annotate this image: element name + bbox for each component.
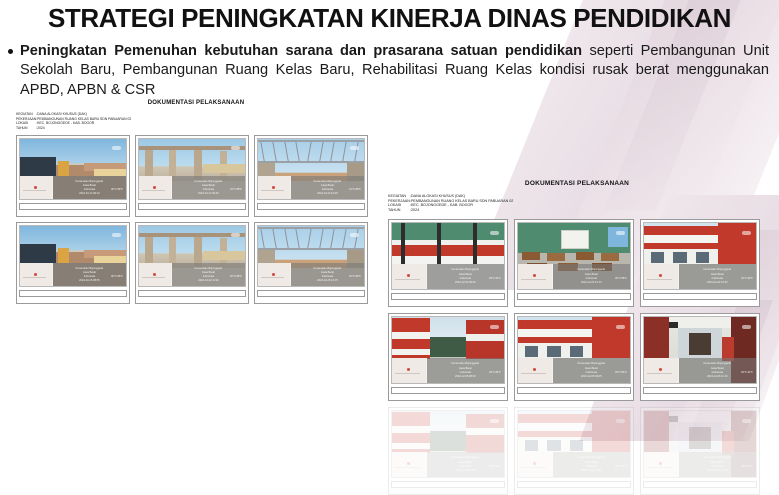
photo-frame[interactable]: Kecamatan BojonggedeJawa BaratIndonesia2…: [640, 313, 760, 401]
map-thumbnail-icon: [518, 452, 553, 477]
photo-building-facade-courtyard[interactable]: Kecamatan BojonggedeJawa BaratIndonesia2…: [643, 222, 757, 290]
bullet-dot-icon: [8, 49, 13, 54]
map-thumbnail-icon: [644, 264, 679, 289]
watermark-line2: Jawa Barat: [202, 184, 215, 187]
weather-cloud-icon: [112, 146, 121, 150]
watermark-temperature: 33°C 91°F: [741, 465, 753, 468]
photo-classroom-interior[interactable]: Kecamatan BojonggedeJawa BaratIndonesia2…: [517, 222, 631, 290]
watermark-temperature: 29°C 84°F: [489, 277, 501, 280]
watermark-temperature: 33°C 91°F: [741, 371, 753, 374]
watermark-temperature: 30°C 86°F: [111, 188, 123, 191]
watermark-line1: Kecamatan Bojonggede: [195, 267, 223, 270]
photo-frame[interactable]: Kecamatan BojonggedeJawa BaratIndonesia2…: [16, 222, 130, 304]
watermark-line4: 2024-10-16 08:55: [79, 279, 99, 282]
watermark-line3: Indonesia: [586, 465, 597, 468]
photo-frame[interactable]: Kecamatan BojonggedeJawa BaratIndonesia2…: [514, 313, 634, 401]
watermark-line1: Kecamatan Bojonggede: [76, 267, 104, 270]
weather-cloud-icon: [742, 325, 751, 329]
watermark-line1: Kecamatan Bojonggede: [314, 180, 342, 183]
photo-caption-bar: [391, 387, 505, 394]
photo-frame[interactable]: Kecamatan BojonggedeJawa BaratIndonesia2…: [388, 313, 508, 401]
watermark-line3: Indonesia: [586, 371, 597, 374]
watermark-line2: Jawa Barat: [585, 461, 598, 464]
photo-bottom-row-center[interactable]: Kecamatan BojonggedeJawa BaratIndonesia2…: [517, 410, 631, 478]
watermark-line1: Kecamatan Bojonggede: [451, 268, 479, 271]
weather-cloud-icon: [490, 419, 499, 423]
watermark-line3: Indonesia: [712, 371, 723, 374]
weather-cloud-icon: [616, 419, 625, 423]
map-thumbnail-icon: [139, 176, 172, 199]
watermark-line2: Jawa Barat: [711, 273, 724, 276]
bullet-paragraph: Peningkatan Pemenuhan kebutuhan sarana d…: [20, 42, 769, 101]
page-title: STRATEGI PENINGKATAN KINERJA DINAS PENDI…: [0, 0, 779, 34]
doc-meta-value: 2024: [37, 126, 131, 131]
watermark-temperature: 32°C 89°F: [230, 275, 242, 278]
map-thumbnail-icon: [392, 452, 427, 477]
watermark-line2: Jawa Barat: [83, 271, 96, 274]
photo-frame[interactable]: Kecamatan BojonggedeJawa BaratIndonesia2…: [514, 219, 634, 307]
watermark-line4: 2024-12-05 09:05: [581, 375, 601, 378]
map-thumbnail-icon: [392, 264, 427, 289]
weather-cloud-icon: [231, 233, 240, 237]
doc-meta-row: TAHUN:2024: [388, 208, 513, 213]
watermark-line4: 2024-10-20 10:05: [317, 192, 337, 195]
map-thumbnail-icon: [518, 264, 553, 289]
watermark-line4: 2024-12-06 12:05: [581, 469, 601, 472]
weather-cloud-icon: [616, 231, 625, 235]
photo-caption-bar: [391, 481, 505, 488]
map-thumbnail-icon: [518, 358, 553, 383]
watermark-line4: 2024-12-06 11:40: [455, 469, 475, 472]
watermark-line4: 2024-12-02 09:20: [455, 281, 475, 284]
photo-grid-1: Kecamatan BojonggedeJawa BaratIndonesia2…: [16, 135, 376, 304]
watermark-line1: Kecamatan Bojonggede: [577, 362, 605, 365]
photo-caption-bar: [517, 293, 631, 300]
doc-meta-table-2: KEGIATAN:DANA ALOKASI KHUSUS (DAK)PEKERJ…: [388, 194, 513, 212]
watermark-temperature: 29°C 84°F: [615, 371, 627, 374]
watermark-line3: Indonesia: [203, 275, 214, 278]
watermark-line2: Jawa Barat: [459, 367, 472, 370]
doc-meta-table-1: KEGIATAN:DANA ALOKASI KHUSUS (DAK)PEKERJ…: [16, 112, 131, 130]
doc-meta-key: TAHUN: [388, 208, 410, 213]
watermark-temperature: 34°C 93°F: [741, 277, 753, 280]
map-thumbnail-icon: [258, 263, 291, 286]
weather-cloud-icon: [350, 146, 359, 150]
photo-courtyard-perspective[interactable]: Kecamatan BojonggedeJawa BaratIndonesia2…: [391, 316, 505, 384]
gps-watermark-overlay: Kecamatan BojonggedeJawa BaratIndonesia2…: [392, 358, 504, 383]
watermark-temperature: 29°C 84°F: [489, 371, 501, 374]
photo-caption-bar: [517, 387, 631, 394]
watermark-line1: Kecamatan Bojonggede: [451, 362, 479, 365]
photo-caption-bar: [643, 293, 757, 300]
photo-grid-2: Kecamatan BojonggedeJawa BaratIndonesia2…: [388, 219, 766, 495]
gps-watermark-overlay: Kecamatan BojonggedeJawa BaratIndonesia2…: [392, 452, 504, 477]
watermark-line2: Jawa Barat: [83, 184, 96, 187]
weather-cloud-icon: [350, 233, 359, 237]
watermark-line4: 2024-10-14 09:40: [198, 192, 218, 195]
gps-watermark-overlay: Kecamatan BojonggedeJawa BaratIndonesia2…: [518, 358, 630, 383]
bullet-item: Peningkatan Pemenuhan kebutuhan sarana d…: [6, 42, 769, 101]
photo-frame[interactable]: Kecamatan BojonggedeJawa BaratIndonesia2…: [135, 135, 249, 217]
watermark-line2: Jawa Barat: [321, 184, 334, 187]
watermark-line2: Jawa Barat: [711, 367, 724, 370]
watermark-line1: Kecamatan Bojonggede: [703, 456, 731, 459]
watermark-line1: Kecamatan Bojonggede: [703, 362, 731, 365]
photo-truss-interior[interactable]: Kecamatan BojonggedeJawa BaratIndonesia2…: [257, 225, 365, 287]
photo-caption-bar: [138, 203, 246, 210]
photo-frame[interactable]: Kecamatan BojonggedeJawa BaratIndonesia2…: [254, 222, 368, 304]
gps-watermark-overlay: Kecamatan BojonggedeJawa BaratIndonesia2…: [644, 358, 756, 383]
weather-cloud-icon: [490, 231, 499, 235]
watermark-line4: 2024-12-06 12:30: [707, 469, 727, 472]
photo-caption-bar: [643, 481, 757, 488]
watermark-line3: Indonesia: [322, 188, 333, 191]
photo-demolition-site-wide[interactable]: Kecamatan BojonggedeJawa BaratIndonesia2…: [19, 138, 127, 200]
watermark-temperature: 32°C 89°F: [349, 275, 361, 278]
watermark-line3: Indonesia: [712, 277, 723, 280]
photo-demolition-site-lower[interactable]: Kecamatan BojonggedeJawa BaratIndonesia2…: [19, 225, 127, 287]
map-thumbnail-icon: [644, 358, 679, 383]
map-thumbnail-icon: [20, 176, 53, 199]
weather-cloud-icon: [490, 325, 499, 329]
watermark-temperature: 29°C 84°F: [615, 465, 627, 468]
gps-watermark-overlay: Kecamatan BojonggedeJawa BaratIndonesia2…: [392, 264, 504, 289]
map-thumbnail-icon: [258, 176, 291, 199]
photo-caption-bar: [19, 290, 127, 297]
watermark-line3: Indonesia: [84, 188, 95, 191]
watermark-temperature: 33°C 91°F: [489, 465, 501, 468]
photo-caption-bar: [19, 203, 127, 210]
watermark-line2: Jawa Barat: [321, 271, 334, 274]
documentation-block-1: DOKUMENTASI PELAKSANAAN KEGIATAN:DANA AL…: [16, 100, 376, 304]
photo-frame[interactable]: Kecamatan BojonggedeJawa BaratIndonesia2…: [16, 135, 130, 217]
weather-cloud-icon: [112, 233, 121, 237]
watermark-line3: Indonesia: [460, 277, 471, 280]
photo-frame[interactable]: Kecamatan BojonggedeJawa BaratIndonesia2…: [388, 219, 508, 307]
photo-frame[interactable]: Kecamatan BojonggedeJawa BaratIndonesia2…: [388, 407, 508, 495]
photo-caption-bar: [643, 387, 757, 394]
doc-heading-2: DOKUMENTASI PELAKSANAAN: [388, 180, 766, 187]
map-thumbnail-icon: [20, 263, 53, 286]
weather-cloud-icon: [742, 419, 751, 423]
photo-frame[interactable]: Kecamatan BojonggedeJawa BaratIndonesia2…: [135, 222, 249, 304]
watermark-line1: Kecamatan Bojonggede: [314, 267, 342, 270]
photo-frame[interactable]: Kecamatan BojonggedeJawa BaratIndonesia2…: [514, 407, 634, 495]
gps-watermark-overlay: Kecamatan BojonggedeJawa BaratIndonesia2…: [518, 452, 630, 477]
watermark-line3: Indonesia: [322, 275, 333, 278]
watermark-line1: Kecamatan Bojonggede: [703, 268, 731, 271]
watermark-line2: Jawa Barat: [585, 273, 598, 276]
watermark-line3: Indonesia: [84, 275, 95, 278]
weather-cloud-icon: [742, 231, 751, 235]
watermark-line1: Kecamatan Bojonggede: [76, 180, 104, 183]
photo-steel-roof-truss[interactable]: Kecamatan BojonggedeJawa BaratIndonesia2…: [257, 138, 365, 200]
doc-heading-1: DOKUMENTASI PELAKSANAAN: [16, 100, 376, 106]
watermark-temperature: 30°C 86°F: [111, 275, 123, 278]
watermark-line3: Indonesia: [460, 465, 471, 468]
photo-caption-bar: [257, 203, 365, 210]
doc-meta-value: 2024: [411, 208, 513, 213]
watermark-line1: Kecamatan Bojonggede: [577, 456, 605, 459]
watermark-temperature: 31°C 88°F: [349, 188, 361, 191]
watermark-line4: 2024-12-03 10:14: [581, 281, 601, 284]
photo-corridor-railing[interactable]: Kecamatan BojonggedeJawa BaratIndonesia2…: [391, 222, 505, 290]
bullet-bold-text: Peningkatan Pemenuhan kebutuhan sarana d…: [20, 43, 582, 59]
photo-column-structure[interactable]: Kecamatan BojonggedeJawa BaratIndonesia2…: [138, 138, 246, 200]
map-thumbnail-icon: [392, 358, 427, 383]
photo-caption-bar: [138, 290, 246, 297]
watermark-line4: 2024-12-03 10:40: [707, 281, 727, 284]
watermark-line2: Jawa Barat: [585, 367, 598, 370]
slide-content: STRATEGI PENINGKATAN KINERJA DINAS PENDI…: [0, 0, 779, 101]
weather-cloud-icon: [616, 325, 625, 329]
doc-meta-row: TAHUN:2024: [16, 126, 131, 131]
watermark-line2: Jawa Barat: [711, 461, 724, 464]
photo-frame[interactable]: Kecamatan BojonggedeJawa BaratIndonesia2…: [640, 219, 760, 307]
watermark-line1: Kecamatan Bojonggede: [451, 456, 479, 459]
watermark-temperature: 30°C 86°F: [615, 277, 627, 280]
photo-bottom-row-right[interactable]: Kecamatan BojonggedeJawa BaratIndonesia2…: [643, 410, 757, 478]
watermark-line4: 2024-12-05 08:30: [455, 375, 475, 378]
watermark-line4: 2024-10-14 09:12: [79, 192, 99, 195]
map-thumbnail-icon: [139, 263, 172, 286]
watermark-line1: Kecamatan Bojonggede: [195, 180, 223, 183]
watermark-line4: 2024-10-25 13:15: [317, 279, 337, 282]
doc-meta-key: TAHUN: [16, 126, 36, 131]
watermark-line3: Indonesia: [203, 188, 214, 191]
watermark-line4: 2024-12-06 11:10: [707, 375, 727, 378]
watermark-line2: Jawa Barat: [202, 271, 215, 274]
watermark-temperature: 31°C 88°F: [230, 188, 242, 191]
watermark-line2: Jawa Barat: [459, 273, 472, 276]
watermark-line3: Indonesia: [460, 371, 471, 374]
photo-frame[interactable]: Kecamatan BojonggedeJawa BaratIndonesia2…: [640, 407, 760, 495]
photo-frame[interactable]: Kecamatan BojonggedeJawa BaratIndonesia2…: [254, 135, 368, 217]
photo-inner-corridor[interactable]: Kecamatan BojonggedeJawa BaratIndonesia2…: [643, 316, 757, 384]
photo-front-entrance[interactable]: Kecamatan BojonggedeJawa BaratIndonesia2…: [517, 316, 631, 384]
watermark-line4: 2024-10-22 11:30: [198, 279, 218, 282]
photo-caption-bar: [257, 290, 365, 297]
watermark-line3: Indonesia: [712, 465, 723, 468]
photo-open-frame-corridor[interactable]: Kecamatan BojonggedeJawa BaratIndonesia2…: [138, 225, 246, 287]
weather-cloud-icon: [231, 146, 240, 150]
photo-caption-bar: [391, 293, 505, 300]
watermark-line3: Indonesia: [586, 277, 597, 280]
gps-watermark-overlay: Kecamatan BojonggedeJawa BaratIndonesia2…: [518, 264, 630, 289]
gps-watermark-overlay: Kecamatan BojonggedeJawa BaratIndonesia2…: [644, 264, 756, 289]
watermark-line2: Jawa Barat: [459, 461, 472, 464]
watermark-line1: Kecamatan Bojonggede: [577, 268, 605, 271]
documentation-block-2: DOKUMENTASI PELAKSANAAN KEGIATAN:DANA AL…: [388, 180, 766, 495]
gps-watermark-overlay: Kecamatan BojonggedeJawa BaratIndonesia2…: [644, 452, 756, 477]
photo-bottom-row-left[interactable]: Kecamatan BojonggedeJawa BaratIndonesia2…: [391, 410, 505, 478]
photo-caption-bar: [517, 481, 631, 488]
map-thumbnail-icon: [644, 452, 679, 477]
